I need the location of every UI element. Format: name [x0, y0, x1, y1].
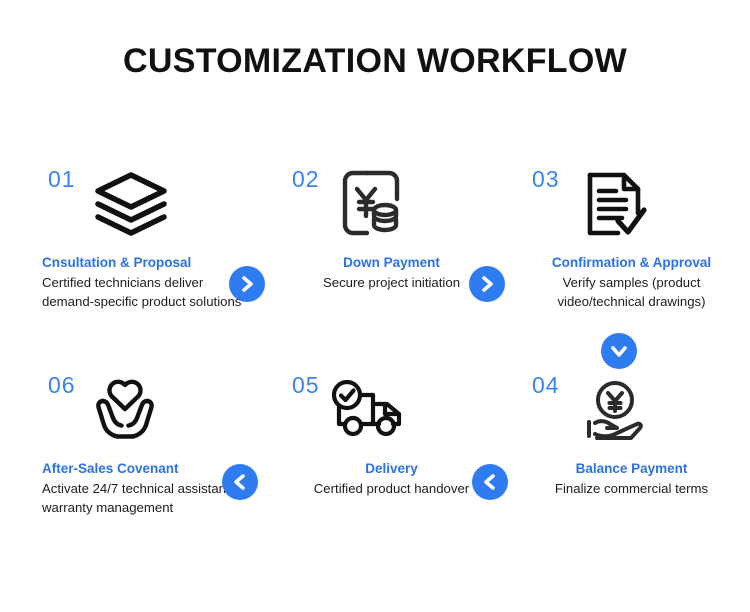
step-text-block: Delivery Certified product handover — [284, 460, 499, 499]
chevron-down-icon — [610, 343, 628, 359]
step-card-03: 03 Confirmation & Approval — [524, 162, 739, 312]
step-card-02: 02 Down P — [284, 162, 499, 293]
step-number: 03 — [532, 168, 560, 191]
step-number: 02 — [292, 168, 320, 191]
step-description: Certified product handover — [286, 480, 497, 499]
step-title: Confirmation & Approval — [526, 254, 737, 272]
step-card-01: 01 Cnsultation & Proposal Certified tech… — [40, 162, 255, 312]
step-description: Verify samples (product video/technical … — [526, 274, 737, 311]
chevron-right-icon — [239, 275, 255, 293]
connector-1-to-2 — [229, 266, 265, 302]
heart-in-hands-icon — [82, 368, 168, 454]
delivery-truck-check-icon — [324, 368, 410, 454]
step-number: 01 — [48, 168, 76, 191]
step-title: Delivery — [286, 460, 497, 478]
step-card-06: 06 After-Sales Covenant Activate 24/ — [40, 368, 255, 518]
step-card-04: 04 Balance Payment Finalize commerci — [524, 368, 739, 499]
step-header: 06 — [40, 368, 255, 460]
step-header: 03 — [524, 162, 739, 254]
step-description: Secure project initiation — [286, 274, 497, 293]
page-title: CUSTOMIZATION WORKFLOW — [0, 42, 750, 81]
step-number: 06 — [48, 374, 76, 397]
step-text-block: Balance Payment Finalize commercial term… — [524, 460, 739, 499]
step-title: Balance Payment — [526, 460, 737, 478]
document-check-icon — [572, 162, 658, 248]
step-header: 01 — [40, 162, 255, 254]
connector-5-to-6 — [222, 464, 258, 500]
step-text-block: Down Payment Secure project initiation — [284, 254, 499, 293]
connector-3-to-4 — [601, 333, 637, 369]
connector-2-to-3 — [469, 266, 505, 302]
hand-holding-yen-coin-icon — [570, 368, 656, 454]
step-card-05: 05 — [284, 368, 499, 499]
chevron-left-icon — [482, 473, 498, 491]
connector-4-to-5 — [472, 464, 508, 500]
step-description: Finalize commercial terms — [526, 480, 737, 499]
step-title: Cnsultation & Proposal — [42, 254, 253, 272]
yen-payment-document-icon — [328, 162, 414, 248]
workflow-infographic: CUSTOMIZATION WORKFLOW 01 Cnsultation & … — [0, 0, 750, 612]
chevron-left-icon — [232, 473, 248, 491]
step-header: 02 — [284, 162, 499, 254]
step-header: 05 — [284, 368, 499, 460]
step-title: Down Payment — [286, 254, 497, 272]
step-number: 04 — [532, 374, 560, 397]
step-description: Certified technicians deliver demand-spe… — [42, 274, 253, 311]
chevron-right-icon — [479, 275, 495, 293]
step-text-block: Confirmation & Approval Verify samples (… — [524, 254, 739, 312]
step-title: After-Sales Covenant — [42, 460, 253, 478]
step-header: 04 — [524, 368, 739, 460]
layers-icon — [88, 162, 174, 248]
step-number: 05 — [292, 374, 320, 397]
step-description: Activate 24/7 technical assistance & war… — [42, 480, 253, 517]
step-text-block: Cnsultation & Proposal Certified technic… — [40, 254, 255, 312]
